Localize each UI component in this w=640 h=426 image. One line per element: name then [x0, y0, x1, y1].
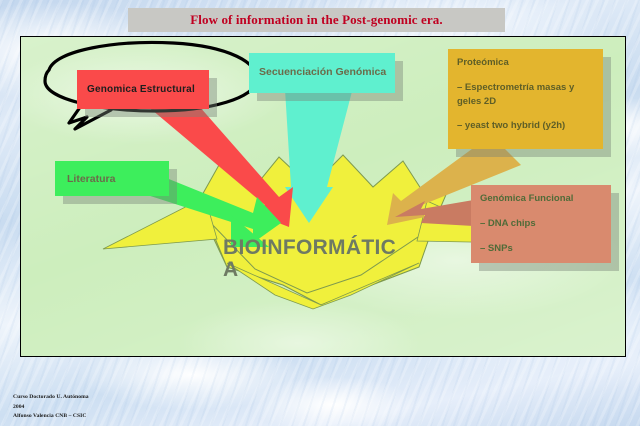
node-proteomics-heading: Proteómica — [457, 56, 594, 70]
footer-credits: Curso Doctorado U. Autónoma 2004 Alfonso… — [13, 393, 89, 422]
page-title: Flow of information in the Post-genomic … — [190, 12, 442, 28]
center-label-bioinformatics: BIOINFORMÁTICA — [223, 237, 403, 281]
node-functional-genomics-item-0: – DNA chips — [480, 217, 602, 231]
node-sequencing[interactable]: Secuenciación Genómica — [249, 53, 395, 93]
node-functional-genomics-item-1: – SNPs — [480, 242, 602, 256]
slide-title-bar: Flow of information in the Post-genomic … — [128, 8, 505, 32]
footer-line-course: Curso Doctorado U. Autónoma — [13, 393, 89, 403]
node-proteomics-item-1: – yeast two hybrid (y2h) — [457, 119, 594, 133]
node-sequencing-label: Secuenciación Genómica — [249, 53, 395, 80]
footer-line-author: Alfonso Valencia CNB – CSIC — [13, 412, 89, 422]
node-structural-genomics[interactable]: Genomica Estructural — [77, 70, 209, 109]
node-proteomics[interactable]: Proteómica – Espectrometría masas y gele… — [448, 49, 603, 149]
footer-line-year: 2004 — [13, 403, 89, 413]
node-literature-label: Literatura — [55, 161, 169, 187]
node-structural-genomics-label: Genomica Estructural — [77, 70, 209, 98]
diagram-panel: Secuenciación Genómica Genomica Estructu… — [20, 36, 626, 357]
node-functional-genomics[interactable]: Genómica Funcional – DNA chips – SNPs — [471, 185, 611, 263]
node-literature[interactable]: Literatura — [55, 161, 169, 196]
node-proteomics-item-0: – Espectrometría masas y geles 2D — [457, 81, 594, 109]
node-functional-genomics-content: Genómica Funcional – DNA chips – SNPs — [471, 185, 611, 255]
node-proteomics-content: Proteómica – Espectrometría masas y gele… — [448, 49, 603, 133]
node-functional-genomics-heading: Genómica Funcional — [480, 192, 602, 206]
